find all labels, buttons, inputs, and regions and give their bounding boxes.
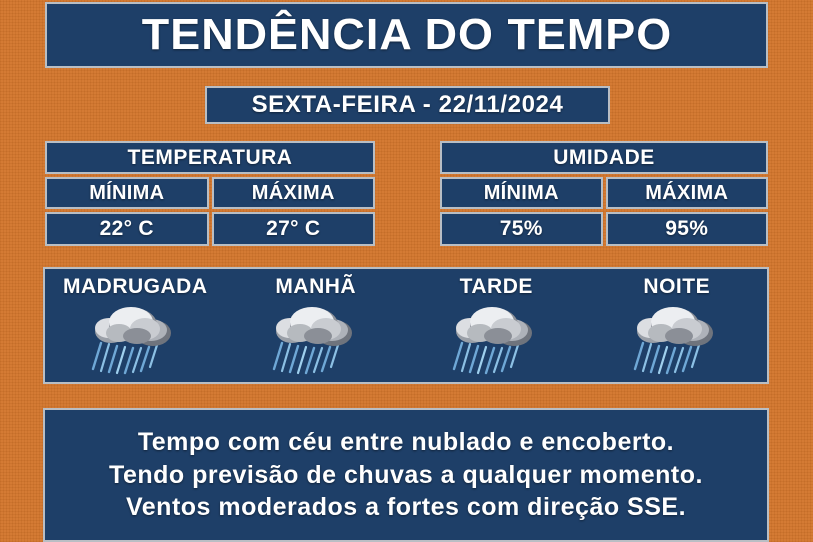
temperature-min-header-cell: MÍNIMA: [45, 177, 209, 209]
page-title: TENDÊNCIA DO TEMPO: [141, 10, 671, 60]
humidity-min-value: 75%: [500, 217, 543, 241]
periods-row: MADRUGADA: [45, 269, 767, 382]
description-line-2: Tendo previsão de chuvas a qualquer mome…: [109, 459, 703, 492]
humidity-max-value-cell: 95%: [606, 212, 769, 246]
periods-panel: MADRUGADA: [43, 267, 769, 384]
period-noite: NOITE: [587, 275, 768, 382]
temperature-title-cell: TEMPERATURA: [45, 141, 375, 174]
temperature-title: TEMPERATURA: [128, 146, 293, 170]
humidity-min-value-cell: 75%: [440, 212, 603, 246]
description-panel: Tempo com céu entre nublado e encoberto.…: [43, 408, 769, 542]
date-text: SEXTA-FEIRA - 22/11/2024: [252, 91, 564, 119]
date-badge: SEXTA-FEIRA - 22/11/2024: [205, 86, 610, 124]
humidity-max-header-cell: MÁXIMA: [606, 177, 769, 209]
temperature-max-header: MÁXIMA: [252, 182, 335, 205]
temperature-max-value-cell: 27° C: [212, 212, 376, 246]
humidity-header-row: MÍNIMA MÁXIMA: [440, 177, 768, 209]
humidity-title-cell: UMIDADE: [440, 141, 768, 174]
humidity-value-row: 75% 95%: [440, 212, 768, 246]
humidity-min-header-cell: MÍNIMA: [440, 177, 603, 209]
period-label-manha: MANHÃ: [275, 275, 356, 299]
rain-cloud-icon: [87, 303, 183, 375]
humidity-max-value: 95%: [665, 217, 708, 241]
period-tarde: TARDE: [406, 275, 587, 382]
temperature-header-row: MÍNIMA MÁXIMA: [45, 177, 375, 209]
rain-cloud-icon: [629, 303, 725, 375]
temperature-max-header-cell: MÁXIMA: [212, 177, 376, 209]
humidity-table: UMIDADE MÍNIMA MÁXIMA 75% 95%: [440, 141, 768, 246]
temperature-table: TEMPERATURA MÍNIMA MÁXIMA 22° C 27° C: [45, 141, 375, 246]
rain-cloud-icon: [268, 303, 364, 375]
humidity-title: UMIDADE: [553, 146, 655, 170]
period-label-madrugada: MADRUGADA: [63, 275, 208, 299]
period-label-tarde: TARDE: [460, 275, 533, 299]
temperature-min-value: 22° C: [100, 217, 154, 241]
temperature-max-value: 27° C: [266, 217, 320, 241]
temperature-value-row: 22° C 27° C: [45, 212, 375, 246]
title-panel: TENDÊNCIA DO TEMPO: [45, 2, 768, 68]
humidity-min-header: MÍNIMA: [484, 182, 559, 205]
rain-cloud-icon: [448, 303, 544, 375]
temperature-min-header: MÍNIMA: [89, 182, 164, 205]
period-manha: MANHÃ: [226, 275, 407, 382]
temperature-min-value-cell: 22° C: [45, 212, 209, 246]
period-label-noite: NOITE: [643, 275, 710, 299]
period-madrugada: MADRUGADA: [45, 275, 226, 382]
description-line-3: Ventos moderados a fortes com direção SS…: [126, 491, 686, 524]
humidity-max-header: MÁXIMA: [645, 182, 728, 205]
description-line-1: Tempo com céu entre nublado e encoberto.: [138, 426, 674, 459]
